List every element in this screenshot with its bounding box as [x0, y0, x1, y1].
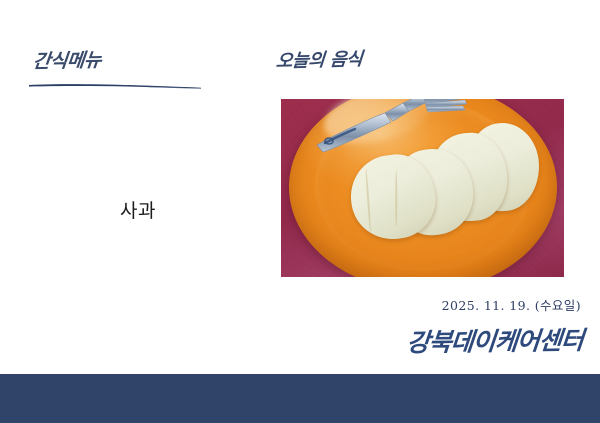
fork-icon — [311, 99, 487, 153]
organization-signature: 강북데이케어센터 — [405, 321, 585, 359]
title-underline-stroke — [29, 83, 201, 89]
menu-item-label: 사과 — [0, 196, 276, 223]
date-label: 2025. 11. 19. (수요일) — [442, 295, 581, 314]
snack-menu-slide: 간식메뉴 오늘의 음식 사과 — [0, 0, 600, 423]
today-food-heading: 오늘의 음식 — [275, 51, 363, 71]
food-photo-image — [281, 99, 564, 277]
page-title: 간식메뉴 — [32, 51, 102, 71]
footer-bar — [0, 374, 600, 423]
orange-plate — [289, 99, 557, 277]
food-photo — [281, 99, 564, 277]
